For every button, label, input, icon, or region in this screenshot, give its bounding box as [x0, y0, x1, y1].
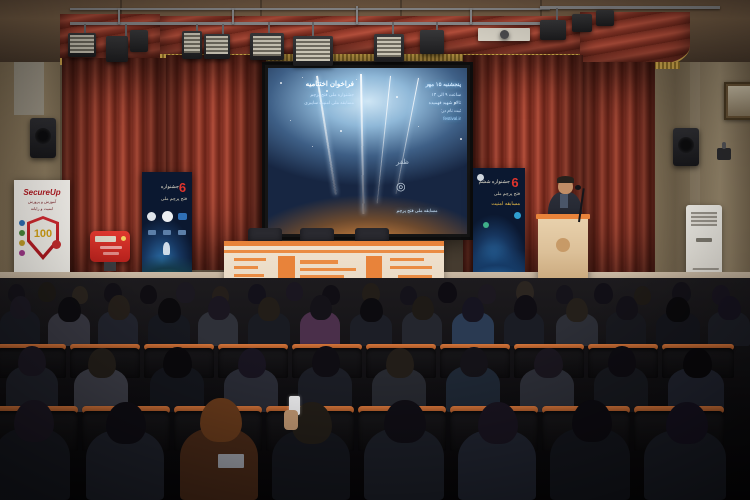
- audience-head: [208, 296, 230, 320]
- stage-light-11: [572, 14, 592, 32]
- audience-head: [88, 348, 116, 378]
- screen-date-line2: ساعت ۹ الی ۱۳: [391, 92, 461, 98]
- banner-center-title: جشنواره: [145, 184, 179, 190]
- framed-portrait-right: [724, 82, 750, 120]
- audience-head: [38, 282, 56, 302]
- logo-accent-dot: [52, 240, 61, 249]
- sponsor-logo-3: [19, 240, 25, 246]
- security-camera: [717, 148, 731, 160]
- screen-date-line3: تالار شهید فهمیده: [391, 100, 461, 106]
- desk-stripe-4: [300, 260, 338, 264]
- audience-head-foreground: [14, 400, 54, 442]
- screen-caption: مسابقه ملی فتح پرچم: [372, 208, 462, 214]
- stage-light-lens: [377, 37, 401, 57]
- audience-head: [534, 348, 563, 378]
- stage-light-bar-core: [500, 30, 509, 39]
- paper-sheet: [218, 454, 244, 468]
- audience-head: [18, 346, 46, 376]
- stage-light-lens: [253, 36, 281, 56]
- banner-secureup-tagline: آموزش و پرورش: [18, 199, 66, 204]
- sponsor-badge-1: [147, 212, 156, 221]
- projection-screen: فراخوان اختتامیه جشنواره ملی فتح پرچم مس…: [262, 62, 473, 240]
- audience-head-foreground: [572, 400, 612, 442]
- banner-right-subtitle: فتح پرچم ملی: [476, 191, 520, 197]
- screen-logo-glyph: ◎: [396, 180, 406, 193]
- audience-head: [412, 296, 434, 320]
- desk-stripe-5: [300, 268, 356, 271]
- control-panel-indicator: [121, 236, 126, 241]
- stage-light-lens: [184, 33, 200, 53]
- stage-light-lens: [70, 35, 94, 53]
- portrait-image: [728, 86, 750, 116]
- banner-festival-center: جشنواره 6 فتح پرچم ملی: [142, 172, 192, 284]
- screen-date-line1: پنجشنبه ۱۵ مهر: [391, 82, 461, 89]
- banner-secureup-brand: SecureUp: [20, 188, 64, 197]
- banner-secureup: SecureUp آموزش و پرورش امنیت و رایانه 10…: [14, 180, 70, 282]
- audience-head: [176, 282, 195, 303]
- stage-light-lens: [206, 36, 228, 54]
- screen-content: فراخوان اختتامیه جشنواره ملی فتح پرچم مس…: [268, 68, 467, 234]
- screen-url: festival.ir: [391, 116, 461, 122]
- banner-right-badge-3: [483, 222, 489, 228]
- audience-head-hijab: [360, 298, 383, 322]
- screen-subtitle-2: مسابقه ملی امنیت سایبری: [276, 100, 354, 106]
- sponsor-logo-1: [19, 220, 25, 226]
- banner-right-badge-1: [477, 174, 484, 181]
- banner-secureup-tagline-2: امنیت و رایانه: [18, 206, 66, 211]
- banner-secureup-number: 100: [31, 228, 55, 240]
- screen-badge-glyph: ظفر: [396, 158, 409, 166]
- audience-head: [108, 295, 130, 320]
- auditorium-scene: فراخوان اختتامیه جشنواره ملی فتح پرچم مس…: [0, 0, 750, 500]
- audience-head: [514, 295, 537, 320]
- audience-head-hijab: [683, 348, 712, 378]
- control-panel-label: [100, 246, 122, 249]
- lighting-truss-main: [70, 22, 550, 25]
- audience-head: [460, 347, 488, 377]
- audience-head: [462, 297, 484, 322]
- truss-drop-4: [470, 8, 472, 24]
- audience-head-hijab: [163, 347, 192, 378]
- audience-head-foreground: [106, 402, 146, 444]
- screen-subtitle: جشنواره ملی فتح پرچم: [276, 92, 354, 98]
- screen-title: فراخوان اختتامیه: [276, 80, 354, 89]
- audience-head: [566, 298, 588, 322]
- desk-stripe-2: [234, 266, 258, 269]
- presenter-hair: [557, 176, 574, 183]
- audience-head: [438, 282, 457, 303]
- podium-emblem: [556, 238, 570, 252]
- audience-head: [386, 348, 414, 378]
- stage-light-2: [106, 36, 128, 62]
- audience-head-hijab: [158, 298, 181, 323]
- lamp-yoke: [125, 24, 127, 36]
- microphone-head: [575, 185, 581, 190]
- speaker-cone-left: [35, 128, 51, 144]
- truss-drop-2: [232, 8, 234, 24]
- audience-head: [718, 296, 741, 320]
- lighting-truss-upper: [70, 8, 550, 10]
- truss-drop-1: [118, 8, 120, 24]
- stage-light-12: [596, 10, 614, 26]
- sponsor-badge-4: [148, 230, 156, 235]
- banner-right-badge-2: [514, 212, 521, 219]
- desk-top-trim: [224, 250, 444, 253]
- audience-head-foreground: [384, 400, 426, 443]
- presenter-shirt: [560, 194, 568, 208]
- desk-stripe-7: [390, 258, 424, 261]
- audience-head: [258, 297, 280, 321]
- audience-head: [608, 346, 636, 377]
- desk-stripe-3: [234, 274, 264, 277]
- audience-head-hijab: [58, 297, 81, 322]
- banner-festival-right: جشنواره ششم 6 فتح پرچم ملی مسابقه امنیت: [473, 168, 525, 284]
- audience-head: [310, 295, 332, 320]
- wall-panel-left-2: [14, 55, 44, 115]
- audience-area: ۱۸۹ ۱۸۶: [0, 278, 750, 500]
- screen-date-line4: ثبت نام در:: [391, 108, 461, 114]
- audience-head: [594, 283, 613, 304]
- sponsor-badge-6: [178, 230, 186, 235]
- banner-center-subtitle: فتح پرچم ملی: [145, 196, 187, 202]
- sponsor-logo-4: [19, 250, 25, 256]
- audience-head-foreground: [200, 398, 242, 442]
- stage-light-3: [130, 30, 148, 52]
- desk-stripe-1: [234, 258, 266, 261]
- control-panel-stand: [104, 262, 116, 271]
- audience-hand: [284, 410, 298, 430]
- desk-stripe-8: [390, 266, 432, 269]
- truss-drop-3: [356, 6, 358, 24]
- audience-head: [312, 346, 340, 377]
- lamp-yoke: [312, 22, 314, 36]
- control-panel-label-2: [103, 252, 119, 255]
- audience-head-hijab: [666, 297, 690, 322]
- stage-light-10: [540, 20, 566, 40]
- sponsor-badge-3: [178, 213, 187, 220]
- ac-vent-grill: [691, 212, 717, 226]
- sponsor-badge-5: [163, 230, 171, 235]
- audience-head: [616, 296, 638, 320]
- stage-light-9: [420, 30, 444, 54]
- security-camera-mount: [722, 142, 726, 149]
- control-panel-display: [95, 236, 116, 242]
- stage-curtain-right: [583, 62, 655, 287]
- lighting-truss-right: [540, 6, 720, 9]
- podium-top-trim: [536, 214, 590, 219]
- banner-center-number: 6: [176, 180, 189, 195]
- speaker-cone-right: [678, 137, 694, 153]
- audience-head: [140, 285, 157, 304]
- ac-badge: [696, 238, 712, 242]
- stage-light-lens: [296, 39, 330, 61]
- banner-right-subtitle-2: مسابقه امنیت: [476, 201, 520, 207]
- banner-right-number: 6: [508, 175, 522, 190]
- audience-head: [286, 282, 303, 301]
- audience-head-foreground: [478, 402, 518, 444]
- sponsor-logo-2: [19, 230, 25, 236]
- sponsor-badge-2: [162, 211, 173, 222]
- audience-head: [10, 296, 31, 319]
- audience-head-foreground: [666, 402, 708, 444]
- audience-head: [238, 348, 266, 378]
